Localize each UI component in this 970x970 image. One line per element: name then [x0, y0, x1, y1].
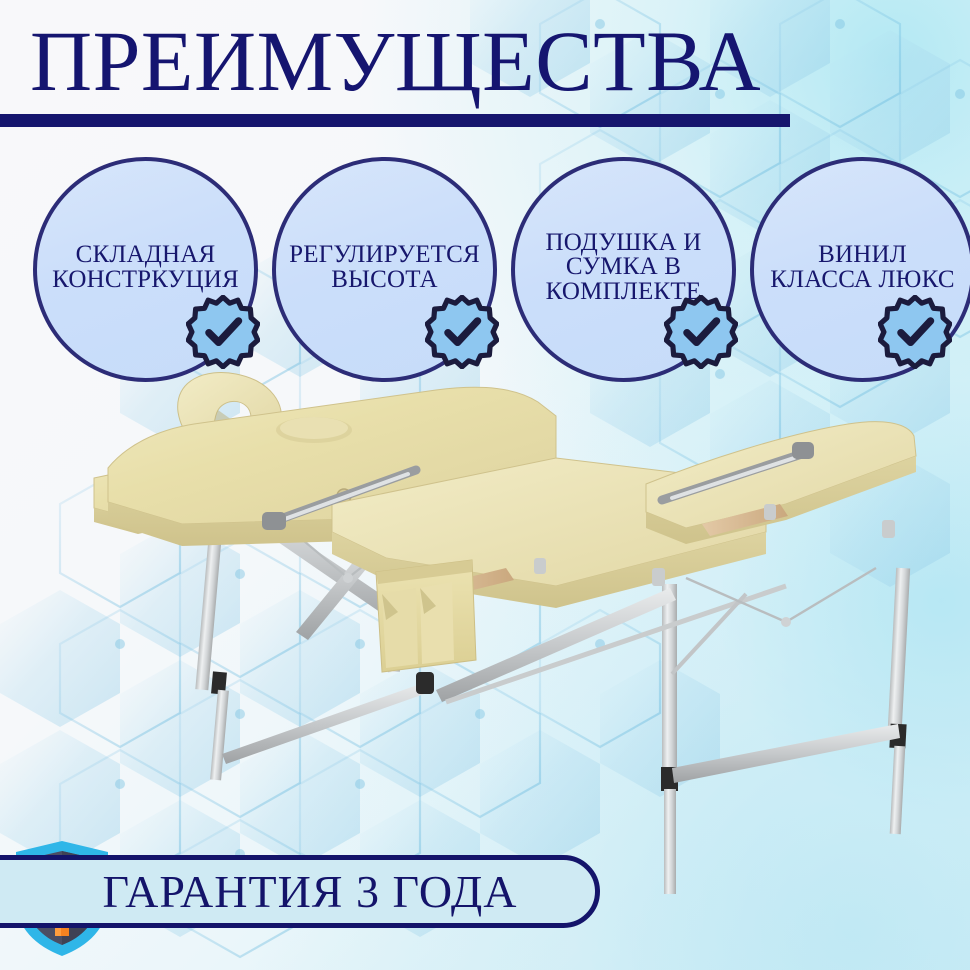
- check-badge-icon: [425, 295, 499, 369]
- feature-line: ПОДУШКА И: [515, 231, 732, 256]
- title-underline-rule: [0, 114, 790, 127]
- guarantee-banner[interactable]: ГАРАНТИЯ 3 ГОДА: [0, 855, 600, 928]
- feature-label-group: РЕГУЛИРУЕТСЯ ВЫСОТА: [276, 243, 493, 292]
- feature-line: ВЫСОТА: [276, 268, 493, 293]
- feature-label-group: СКЛАДНАЯ КОНСТРКУЦИЯ: [37, 243, 254, 292]
- feature-line: СУМКА В: [515, 255, 732, 280]
- check-badge-icon: [186, 295, 260, 369]
- product-image-massage-table: [86, 372, 926, 932]
- feature-label-group: ВИНИЛ КЛАССА ЛЮКС: [754, 243, 970, 292]
- check-badge-icon: [878, 295, 952, 369]
- feature-line: КЛАССА ЛЮКС: [754, 268, 970, 293]
- feature-line: РЕГУЛИРУЕТСЯ: [276, 243, 493, 268]
- guarantee-banner-text: ГАРАНТИЯ 3 ГОДА: [43, 865, 518, 918]
- side-pocket-organiser: [376, 560, 476, 672]
- feature-label-group: ПОДУШКА И СУМКА В КОМПЛЕКТЕ: [515, 231, 732, 305]
- feature-line: КОНСТРКУЦИЯ: [37, 268, 254, 293]
- check-badge-icon: [664, 295, 738, 369]
- feature-line: ВИНИЛ: [754, 243, 970, 268]
- feature-line: СКЛАДНАЯ: [37, 243, 254, 268]
- poster-canvas: ПРЕИМУЩЕСТВА СКЛАДНАЯ КОНСТРКУЦИЯ РЕГУЛИ…: [0, 0, 970, 970]
- page-title: ПРЕИМУЩЕСТВА: [30, 18, 790, 104]
